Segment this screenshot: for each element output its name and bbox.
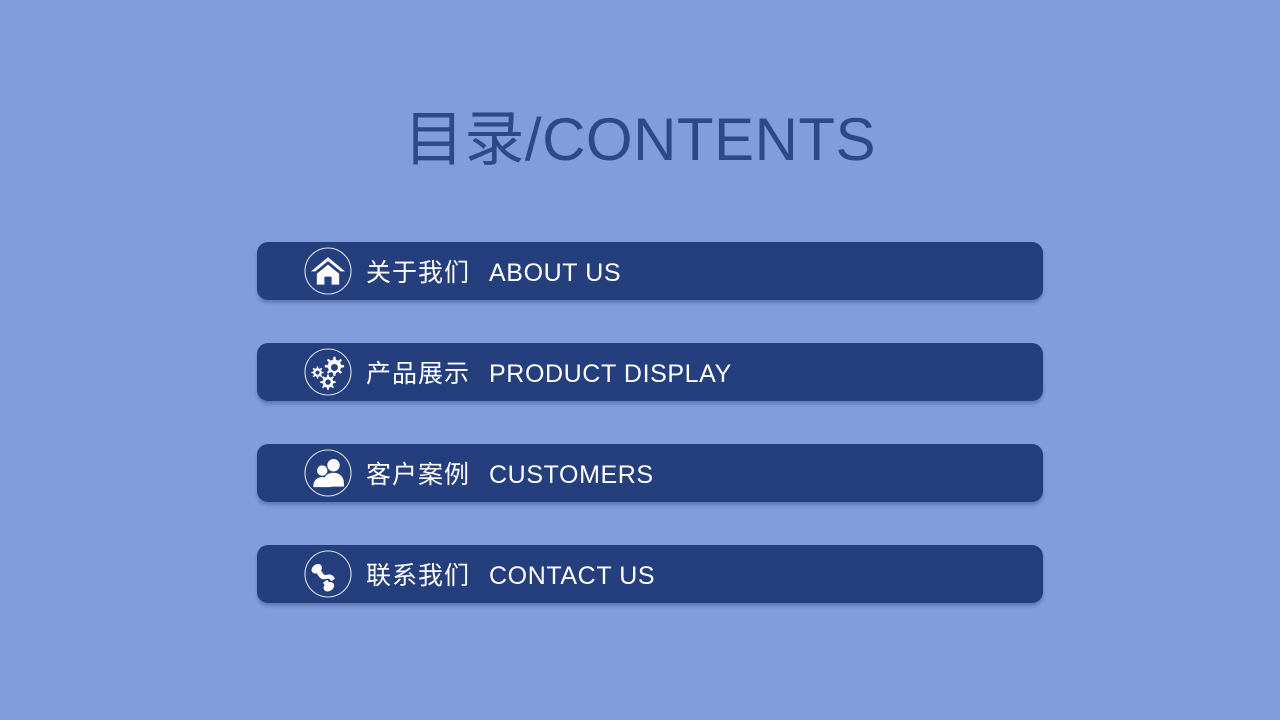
toc-item-customers[interactable]: 客户案例 CUSTOMERS: [257, 444, 1043, 502]
home-icon: [303, 246, 353, 296]
toc-item-label-en: ABOUT US: [489, 259, 621, 288]
toc-item-label-cn: 客户案例: [366, 455, 470, 491]
toc-item-label-cn: 联系我们: [366, 556, 470, 592]
toc-item-label-en: CONTACT US: [489, 562, 655, 591]
phone-icon: [303, 549, 353, 599]
gears-icon: [303, 347, 353, 397]
page-title: 目录/CONTENTS: [0, 103, 1280, 177]
toc-item-about-us[interactable]: 关于我们 ABOUT US: [257, 242, 1043, 300]
toc-item-labels: 客户案例 CUSTOMERS: [366, 455, 654, 491]
people-icon: [303, 448, 353, 498]
slide-canvas: 目录/CONTENTS 关于我们 ABOUT US: [0, 0, 1280, 720]
toc-item-label-cn: 关于我们: [366, 253, 470, 289]
table-of-contents-list: 关于我们 ABOUT US: [257, 242, 1043, 603]
toc-item-labels: 关于我们 ABOUT US: [366, 253, 621, 289]
toc-item-label-cn: 产品展示: [366, 354, 470, 390]
toc-item-label-en: CUSTOMERS: [489, 461, 654, 490]
toc-item-product-display[interactable]: 产品展示 PRODUCT DISPLAY: [257, 343, 1043, 401]
toc-item-contact-us[interactable]: 联系我们 CONTACT US: [257, 545, 1043, 603]
toc-item-labels: 产品展示 PRODUCT DISPLAY: [366, 354, 732, 390]
toc-item-labels: 联系我们 CONTACT US: [366, 556, 655, 592]
toc-item-label-en: PRODUCT DISPLAY: [489, 360, 732, 389]
